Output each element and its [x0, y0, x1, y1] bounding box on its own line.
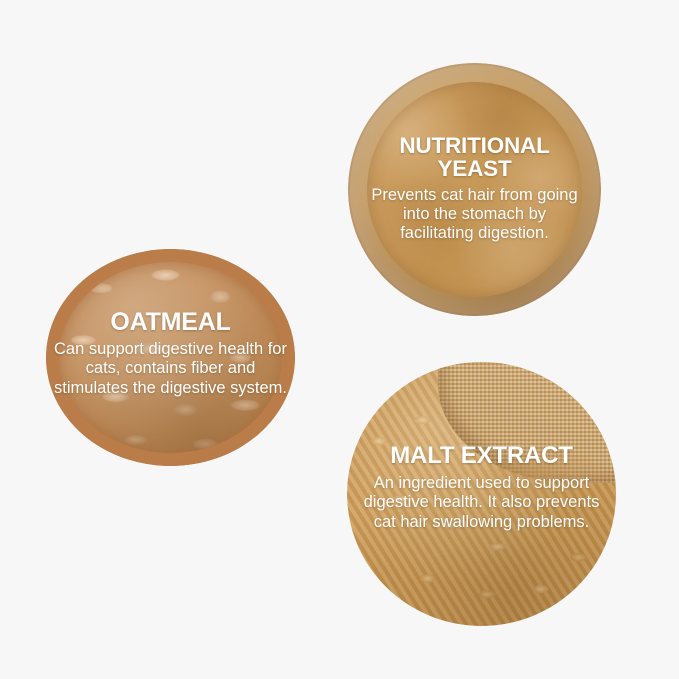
malt-copy-block: MALT EXTRACT An ingredient used to suppo… — [347, 444, 616, 531]
ingredient-circle-nutritional-yeast: NUTRITIONAL YEAST Prevents cat hair from… — [348, 63, 601, 316]
infographic-canvas: OATMEAL Can support digestive health for… — [0, 0, 679, 679]
oatmeal-description: Can support digestive health for cats, c… — [50, 340, 291, 397]
yeast-title: NUTRITIONAL YEAST — [366, 134, 583, 181]
oatmeal-title: OATMEAL — [50, 309, 291, 335]
yeast-description: Prevents cat hair from going into the st… — [366, 186, 583, 243]
malt-title: MALT EXTRACT — [353, 444, 610, 469]
malt-description: An ingredient used to support digestive … — [353, 474, 610, 531]
ingredient-circle-malt-extract: MALT EXTRACT An ingredient used to suppo… — [347, 362, 616, 626]
oatmeal-copy-block: OATMEAL Can support digestive health for… — [46, 309, 295, 397]
yeast-copy-block: NUTRITIONAL YEAST Prevents cat hair from… — [348, 134, 601, 243]
ingredient-circle-oatmeal: OATMEAL Can support digestive health for… — [46, 249, 295, 466]
